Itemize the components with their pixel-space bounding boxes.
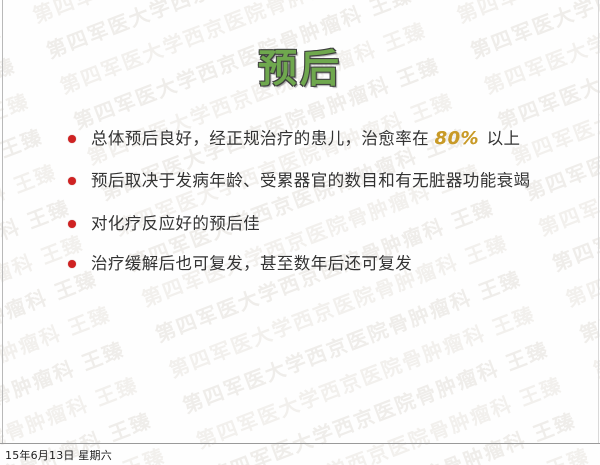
list-item-text-before: 总体预后良好，经正规治疗的患儿，治愈率在	[91, 129, 435, 148]
watermark-text: 第四军医大学西京医院骨肿瘤科 王臻	[193, 302, 539, 454]
watermark-text: 第四军医大学西京医院骨肿瘤科 王臻	[0, 266, 101, 418]
list-item-text: 预后取决于发病年龄、受累器官的数目和有无脏器功能衰竭	[91, 168, 538, 194]
watermark-text: 第四军医大学西京医院骨肿瘤科 王臻	[563, 160, 600, 312]
list-item-text-after: 以上	[481, 129, 520, 148]
list-item: 预后取决于发病年龄、受累器官的数目和有无脏器功能衰竭	[68, 168, 538, 194]
list-item-text: 治疗缓解后也可复发，甚至数年后还可复发	[91, 251, 538, 277]
watermark-text: 第四军医大学西京医院骨肿瘤科 王臻	[0, 160, 60, 312]
bullet-dot-icon	[68, 177, 76, 185]
watermark-text: 第四军医大学西京医院骨肿瘤科 王臻	[247, 443, 593, 465]
watermark-text: 第四军医大学西京医院骨肿瘤科 王臻	[220, 373, 566, 465]
list-item: 总体预后良好，经正规治疗的患儿，治愈率在 80% 以上	[68, 126, 538, 152]
watermark-text: 第四军医大学西京医院骨肿瘤科 王臻	[0, 124, 46, 276]
bullet-dot-icon	[68, 135, 76, 143]
slide-left-border	[2, 0, 3, 443]
watermark-text: 第四军医大学西京医院骨肿瘤科 王臻	[30, 0, 376, 28]
watermark-text: 第四军医大学西京医院骨肿瘤科 王臻	[207, 337, 553, 465]
footer-divider	[0, 443, 600, 444]
watermark-line: 第四军医大学西京医院骨肿瘤科 王臻 第四军医大学西京医院骨肿瘤科 王臻 第四军医…	[0, 335, 600, 465]
slide-right-border	[598, 0, 599, 443]
watermark-line: 第四军医大学西京医院骨肿瘤科 王臻 第四军医大学西京医院骨肿瘤科 王臻 第四军医…	[0, 264, 600, 465]
list-item: 对化疗反应好的预后佳	[68, 211, 538, 237]
slide-body-list: 总体预后良好，经正规治疗的患儿，治愈率在 80% 以上 预后取决于发病年龄、受累…	[68, 126, 538, 277]
watermark-text: 第四军医大学西京医院骨肿瘤科 王臻	[179, 266, 525, 418]
watermark-line: 第四军医大学西京医院骨肿瘤科 王臻 第四军医大学西京医院骨肿瘤科 王臻 第四军医…	[0, 300, 600, 465]
watermark-text: 第四军医大学西京医院骨肿瘤科 王臻	[0, 302, 114, 454]
list-item-text: 对化疗反应好的预后佳	[91, 211, 538, 237]
watermark-text: 第四军医大学西京医院骨肿瘤科 王臻	[535, 89, 600, 241]
watermark-text: 第四军医大学西京医院骨肿瘤科 王臻	[0, 195, 74, 347]
watermark-text: 第四军医大学西京医院骨肿瘤科 王臻	[0, 337, 128, 465]
watermark-text: 第四军医大学西京医院骨肿瘤科 王臻	[234, 408, 580, 465]
list-item-text: 总体预后良好，经正规治疗的患儿，治愈率在 80% 以上	[91, 126, 538, 152]
watermark-text: 第四军医大学西京医院骨肿瘤科 王臻	[576, 195, 600, 347]
footer-date-label: 15年6月13日 星期六	[5, 447, 112, 463]
bullet-dot-icon	[68, 260, 76, 268]
watermark-text: 第四军医大学西京医院骨肿瘤科 王臻	[0, 89, 33, 241]
slide-canvas: 第四军医大学西京医院骨肿瘤科 王臻 第四军医大学西京医院骨肿瘤科 王臻 第四军医…	[0, 0, 600, 465]
bullet-dot-icon	[68, 220, 76, 228]
page-title: 预后	[258, 38, 342, 94]
list-item: 治疗缓解后也可复发，甚至数年后还可复发	[68, 251, 538, 277]
slide-title-block: 预后	[0, 38, 600, 94]
watermark-text: 第四军医大学西京医院骨肿瘤科 王臻	[454, 0, 600, 28]
watermark-text: 第四军医大学西京医院骨肿瘤科 王臻	[549, 124, 600, 276]
emphasis-80-percent: 80%	[435, 128, 481, 149]
